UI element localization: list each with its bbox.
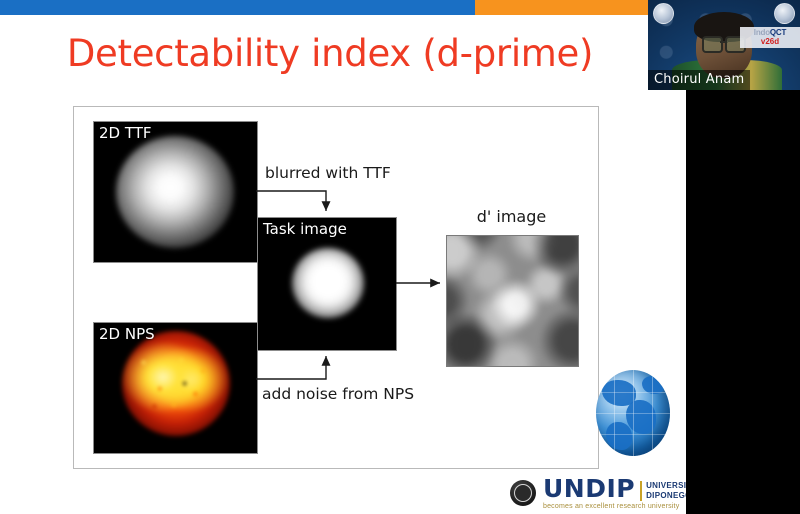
accent-bar-blue	[0, 0, 475, 15]
undip-tagline: becomes an excellent research university	[543, 503, 686, 510]
watermark-version: v26d	[743, 37, 797, 46]
panel-label-2d-ttf: 2D TTF	[99, 124, 152, 142]
undip-subtitle: UNIVERSITAS DIPONEGORO	[640, 481, 686, 501]
undip-seal-icon	[510, 480, 536, 506]
panel-label-2d-nps: 2D NPS	[99, 325, 155, 343]
panel-label-task-image: Task image	[263, 220, 347, 238]
nps-speckle-texture	[122, 331, 230, 436]
dprime-caption: d' image	[429, 207, 594, 226]
undip-wordmark: UNDIP	[543, 476, 635, 501]
participant-name-label: Choirul Anam	[648, 70, 750, 90]
watermark-product: QCT	[770, 28, 786, 37]
backdrop-seal-right-icon	[774, 3, 795, 24]
diagram-container: 2D TTF 2D NPS Task image d' image	[73, 106, 599, 469]
arrow-label-blurred-with-ttf: blurred with TTF	[265, 164, 391, 182]
arrow-nps-to-task	[256, 356, 326, 379]
watermark-prefix: Indo	[754, 28, 770, 37]
shared-slide: Detectability index (d-prime) 2D TTF 2D …	[0, 0, 686, 514]
arrow-ttf-to-task	[256, 191, 326, 211]
panel-task-image: Task image	[257, 217, 397, 351]
webcam-tile-participant[interactable]: IndoQCT v26d Choirul Anam	[648, 0, 800, 90]
panel-dprime-image	[446, 235, 579, 367]
backdrop-seal-left-icon	[653, 3, 674, 24]
panel-2d-nps: 2D NPS	[93, 322, 258, 454]
page-title: Detectability index (d-prime)	[0, 32, 660, 75]
task-blob-image	[292, 248, 364, 318]
undip-subtitle-line1: UNIVERSITAS	[646, 481, 686, 491]
indoqct-watermark: IndoQCT v26d	[740, 27, 800, 48]
undip-logo: UNDIP UNIVERSITAS DIPONEGORO becomes an …	[510, 476, 686, 510]
slide-top-accent-bar	[0, 0, 686, 15]
undip-subtitle-line2: DIPONEGORO	[646, 491, 686, 501]
undip-logo-text: UNDIP UNIVERSITAS DIPONEGORO becomes an …	[543, 476, 686, 510]
ttf-blob-image	[116, 136, 234, 248]
watermark-product-line: IndoQCT	[743, 28, 797, 37]
dprime-noise-texture	[446, 235, 579, 367]
panel-2d-ttf: 2D TTF	[93, 121, 258, 263]
globe-graphic	[596, 370, 670, 456]
arrow-label-add-noise-from-nps: add noise from NPS	[262, 385, 414, 403]
